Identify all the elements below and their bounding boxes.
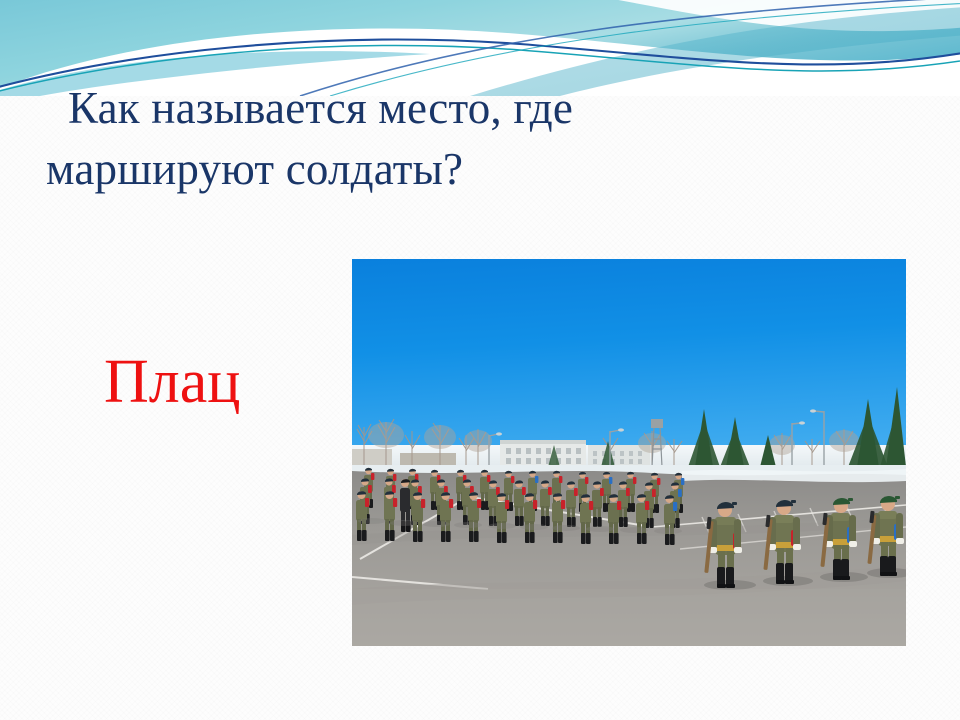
photo-image [352,259,906,646]
parade-ground-photo [352,259,906,646]
slide: Как называется место, где маршируют солд… [0,0,960,720]
answer-text: Плац [104,347,240,417]
title-line-2: маршируют солдаты? [46,139,836,200]
title-line-1: Как называется место, где [46,78,836,139]
slide-title: Как называется место, где маршируют солд… [46,78,836,200]
